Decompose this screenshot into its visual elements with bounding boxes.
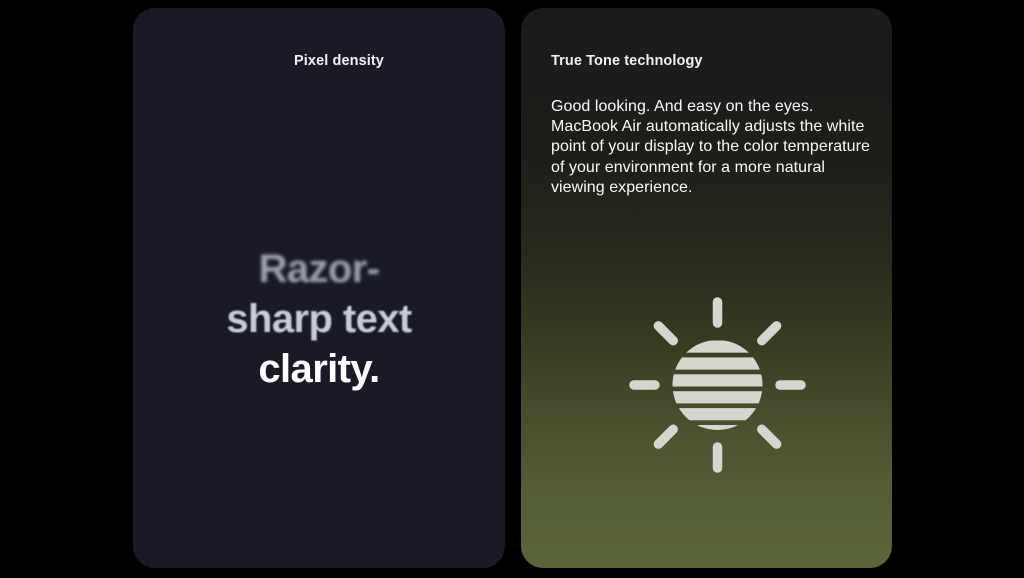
card-true-tone[interactable]: True Tone technology Good looking. And e… (521, 8, 892, 568)
headline-line-razor: Razor- (133, 244, 505, 294)
card-title-true-tone: True Tone technology (551, 52, 703, 70)
sun-disc-stripes (665, 341, 770, 438)
headline-line-clarity: clarity. (133, 344, 505, 394)
screen-root: Pixel density Razor- sharp text clarity.… (0, 0, 1024, 578)
pixel-density-headline: Razor- sharp text clarity. (133, 244, 505, 394)
card-title-pixel-density: Pixel density (294, 52, 384, 70)
headline-line-sharp-text: sharp text (133, 294, 505, 344)
card-pixel-density[interactable]: Pixel density Razor- sharp text clarity. (133, 8, 505, 568)
striped-sun-icon (625, 285, 810, 485)
true-tone-body-text: Good looking. And easy on the eyes. MacB… (551, 97, 871, 198)
